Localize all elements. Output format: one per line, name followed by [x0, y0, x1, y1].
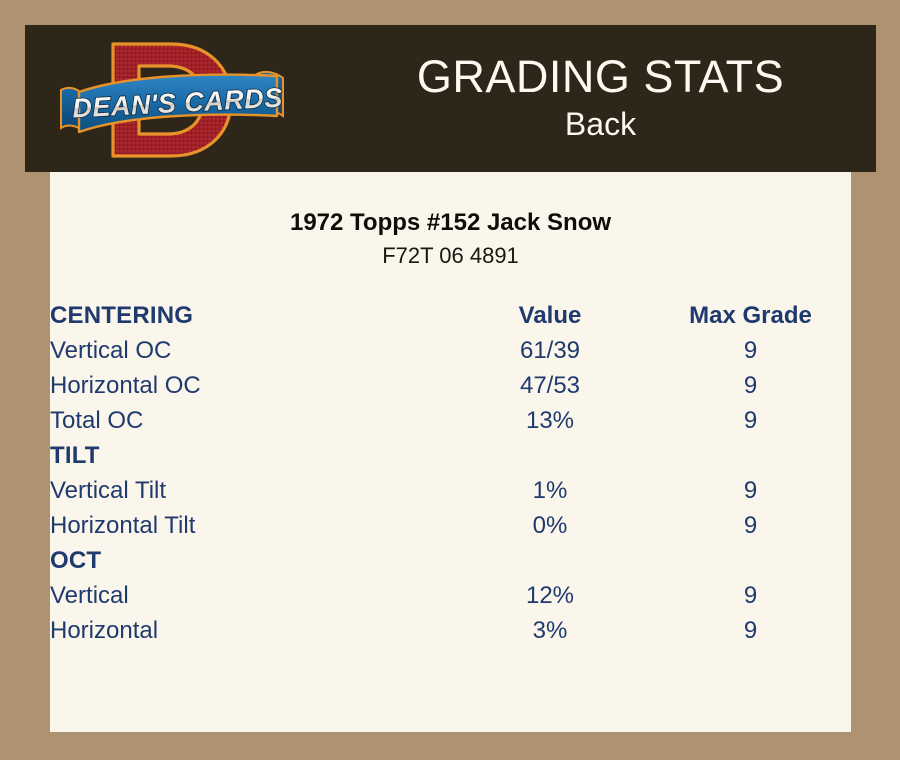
stats-row: Vertical OC61/399 — [50, 333, 851, 368]
stat-label: Vertical — [50, 578, 450, 613]
value-column-header — [450, 438, 650, 473]
stat-max-grade: 9 — [650, 508, 851, 543]
stat-label: Total OC — [50, 403, 450, 438]
stat-value: 13% — [450, 403, 650, 438]
card-title: 1972 Topps #152 Jack Snow — [50, 208, 851, 238]
stats-section-header-row: TILT — [50, 438, 851, 473]
deans-cards-logo[interactable]: DEAN'S CARDS — [55, 30, 300, 170]
stat-label: Horizontal Tilt — [50, 508, 450, 543]
stats-row: Horizontal OC47/539 — [50, 368, 851, 403]
stat-max-grade: 9 — [650, 403, 851, 438]
grading-stats-table: CENTERINGValueMax GradeVertical OC61/399… — [50, 298, 851, 648]
stat-label: Horizontal OC — [50, 368, 450, 403]
logo-artwork: DEAN'S CARDS — [55, 30, 300, 170]
stats-section-header-row: OCT — [50, 543, 851, 578]
stat-max-grade: 9 — [650, 613, 851, 648]
stat-max-grade: 9 — [650, 333, 851, 368]
stats-section-header-row: CENTERINGValueMax Grade — [50, 298, 851, 333]
stats-row: Vertical Tilt1%9 — [50, 473, 851, 508]
stat-value: 12% — [450, 578, 650, 613]
max-grade-column-header: Max Grade — [650, 298, 851, 333]
stats-section-label: TILT — [50, 438, 450, 473]
stat-max-grade: 9 — [650, 578, 851, 613]
stat-value: 0% — [450, 508, 650, 543]
stat-max-grade: 9 — [650, 473, 851, 508]
page-title: GRADING STATS — [417, 50, 784, 104]
stats-row: Horizontal3%9 — [50, 613, 851, 648]
value-column-header: Value — [450, 298, 650, 333]
stats-section-label: OCT — [50, 543, 450, 578]
header-bar: DEAN'S CARDS GRADING STATS Back — [25, 25, 876, 172]
stat-value: 1% — [450, 473, 650, 508]
stats-row: Horizontal Tilt0%9 — [50, 508, 851, 543]
content-panel: 1972 Topps #152 Jack Snow F72T 06 4891 C… — [50, 172, 851, 732]
page-subtitle: Back — [565, 104, 636, 144]
grading-stats-body: CENTERINGValueMax GradeVertical OC61/399… — [50, 298, 851, 648]
stat-value: 47/53 — [450, 368, 650, 403]
max-grade-column-header — [650, 438, 851, 473]
header-title-group: GRADING STATS Back — [325, 25, 876, 172]
stat-label: Vertical Tilt — [50, 473, 450, 508]
stat-value: 61/39 — [450, 333, 650, 368]
max-grade-column-header — [650, 543, 851, 578]
stats-section-label: CENTERING — [50, 298, 450, 333]
stats-row: Vertical12%9 — [50, 578, 851, 613]
stat-max-grade: 9 — [650, 368, 851, 403]
value-column-header — [450, 543, 650, 578]
stats-row: Total OC13%9 — [50, 403, 851, 438]
stat-value: 3% — [450, 613, 650, 648]
stat-label: Horizontal — [50, 613, 450, 648]
card-serial-number: F72T 06 4891 — [50, 242, 851, 270]
stat-label: Vertical OC — [50, 333, 450, 368]
